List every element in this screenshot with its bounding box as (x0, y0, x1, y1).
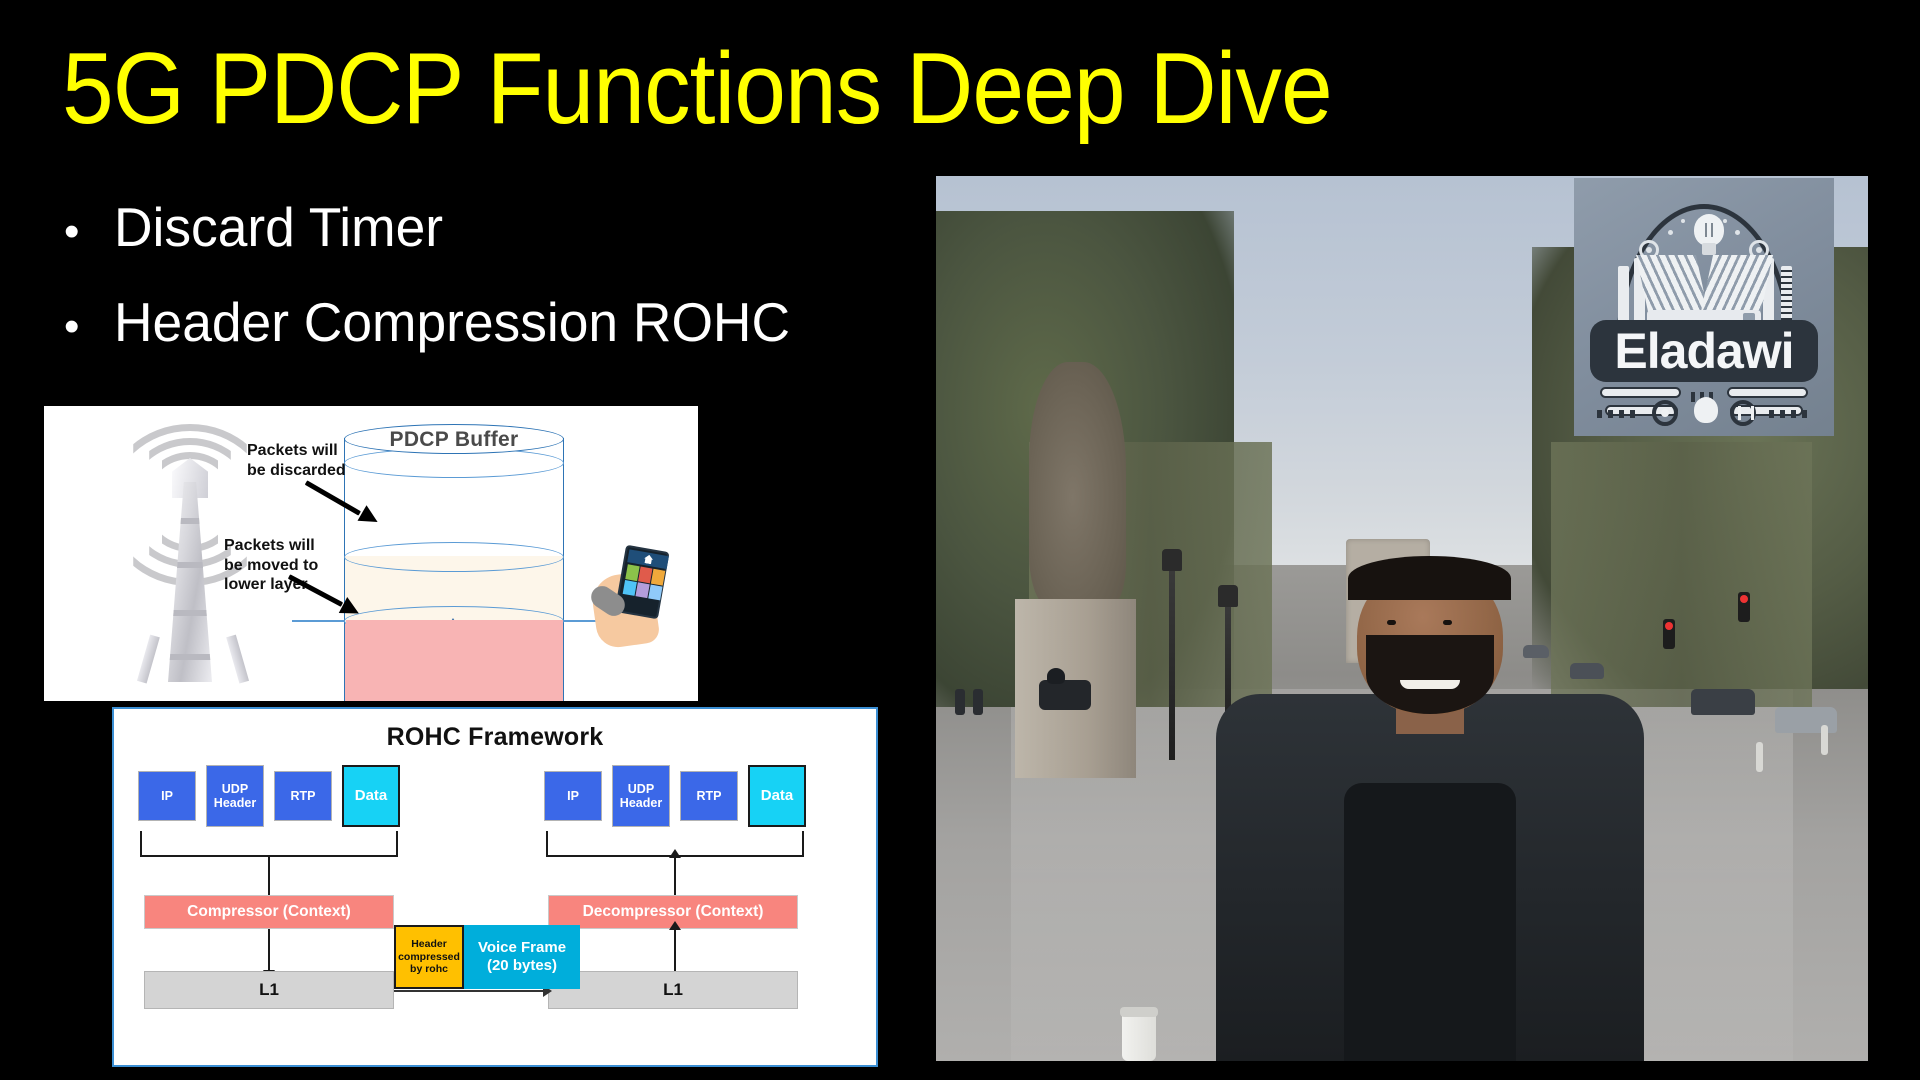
statue-monument (992, 353, 1160, 778)
bullet-marker-icon: • (52, 305, 114, 349)
logo-brand-plaque: Eladawi (1590, 320, 1819, 382)
dot-divider-icon (1597, 410, 1639, 418)
l1-box-right: L1 (548, 971, 798, 1009)
pdcp-buffer-cylinder: PDCP Buffer (344, 424, 564, 674)
l1-box-left: L1 (144, 971, 394, 1009)
beard (1366, 635, 1495, 714)
car (1691, 689, 1755, 715)
lightbulb-icon (1694, 397, 1720, 431)
bullet-text: Header Compression ROHC (114, 295, 790, 350)
open-book-icon (1642, 255, 1767, 312)
buffer-label: PDCP Buffer (344, 428, 564, 452)
annotation-discard: Packets will be discarded (247, 441, 346, 480)
bollard (1821, 725, 1828, 755)
pencil-icon (1727, 387, 1808, 398)
hair (1348, 556, 1511, 601)
bullet-text: Discard Timer (114, 200, 443, 255)
phone-app-tiles (623, 564, 666, 600)
sparkle-icon (1668, 230, 1673, 235)
tower-leg (226, 635, 249, 684)
page-title: 5G PDCP Functions Deep Dive (62, 36, 1332, 142)
buffer-fill-mask (346, 620, 563, 701)
pedestrian (955, 689, 965, 715)
paper-cup (1122, 1013, 1156, 1061)
compressed-voice-packet: Header compressed by rohc Voice Frame (2… (394, 925, 580, 989)
flow-arrow-down (268, 929, 270, 971)
lightbulb-icon (1694, 214, 1728, 258)
statue-figure (1029, 362, 1126, 608)
bullet-marker-icon: • (52, 210, 114, 254)
pdcp-buffer-diagram: PDCP Buffer 1 Second Packets will be dis… (44, 406, 698, 701)
flow-arrow-down (268, 857, 270, 897)
packet-box-rtp: RTP (274, 771, 332, 821)
street-lamp (1169, 565, 1175, 760)
voice-frame-box: Voice Frame (20 bytes) (464, 925, 580, 989)
presenter-photo: Eladawi (936, 176, 1868, 1061)
ruler-icon (1781, 266, 1792, 326)
flow-arrow-up (674, 929, 676, 971)
logo-brand-text: Eladawi (1614, 322, 1793, 380)
packet-box-rtp: RTP (680, 771, 738, 821)
gear-icon (1730, 400, 1756, 426)
list-item: • Discard Timer (52, 200, 992, 255)
packet-box-udp: UDP Header (206, 765, 264, 827)
buffer-divider-ellipse (344, 542, 564, 572)
packet-group-brace (140, 831, 398, 857)
flow-arrow-up (674, 857, 676, 897)
eye (1387, 620, 1396, 625)
rohc-framework-diagram: ROHC Framework IP UDP Header RTP Data IP… (112, 707, 878, 1067)
bullet-list: • Discard Timer • Header Compression ROH… (52, 200, 992, 390)
circle-dot-icon (1652, 400, 1678, 426)
packet-box-ip: IP (544, 771, 602, 821)
packet-box-data: Data (748, 765, 806, 827)
pencil-icon (1600, 387, 1681, 398)
packet-box-ip: IP (138, 771, 196, 821)
presentation-slide: 5G PDCP Functions Deep Dive • Discard Ti… (0, 0, 1920, 1080)
dot-divider-icon (1769, 410, 1811, 418)
packet-box-udp: UDP Header (612, 765, 670, 827)
sparkle-icon (1681, 219, 1685, 223)
presenter-person (1216, 565, 1645, 1061)
l1-transmission-arrow (394, 990, 544, 992)
compressor-box: Compressor (Context) (144, 895, 394, 929)
traffic-light (1663, 619, 1675, 649)
pedestrian (973, 689, 983, 715)
hand-holding-phone-icon (594, 546, 684, 656)
pencil-icon (1618, 266, 1629, 326)
list-item: • Header Compression ROHC (52, 295, 992, 350)
compressed-header-box: Header compressed by rohc (394, 925, 464, 989)
eladawi-logo: Eladawi (1574, 178, 1834, 436)
tower-leg (137, 635, 160, 684)
motorcycle (1039, 680, 1091, 710)
traffic-light (1738, 592, 1750, 622)
smile (1400, 680, 1460, 689)
packet-box-data: Data (342, 765, 400, 827)
tshirt (1344, 783, 1515, 1061)
eye (1443, 620, 1452, 625)
rohc-title: ROHC Framework (114, 723, 876, 752)
bollard (1756, 742, 1763, 772)
